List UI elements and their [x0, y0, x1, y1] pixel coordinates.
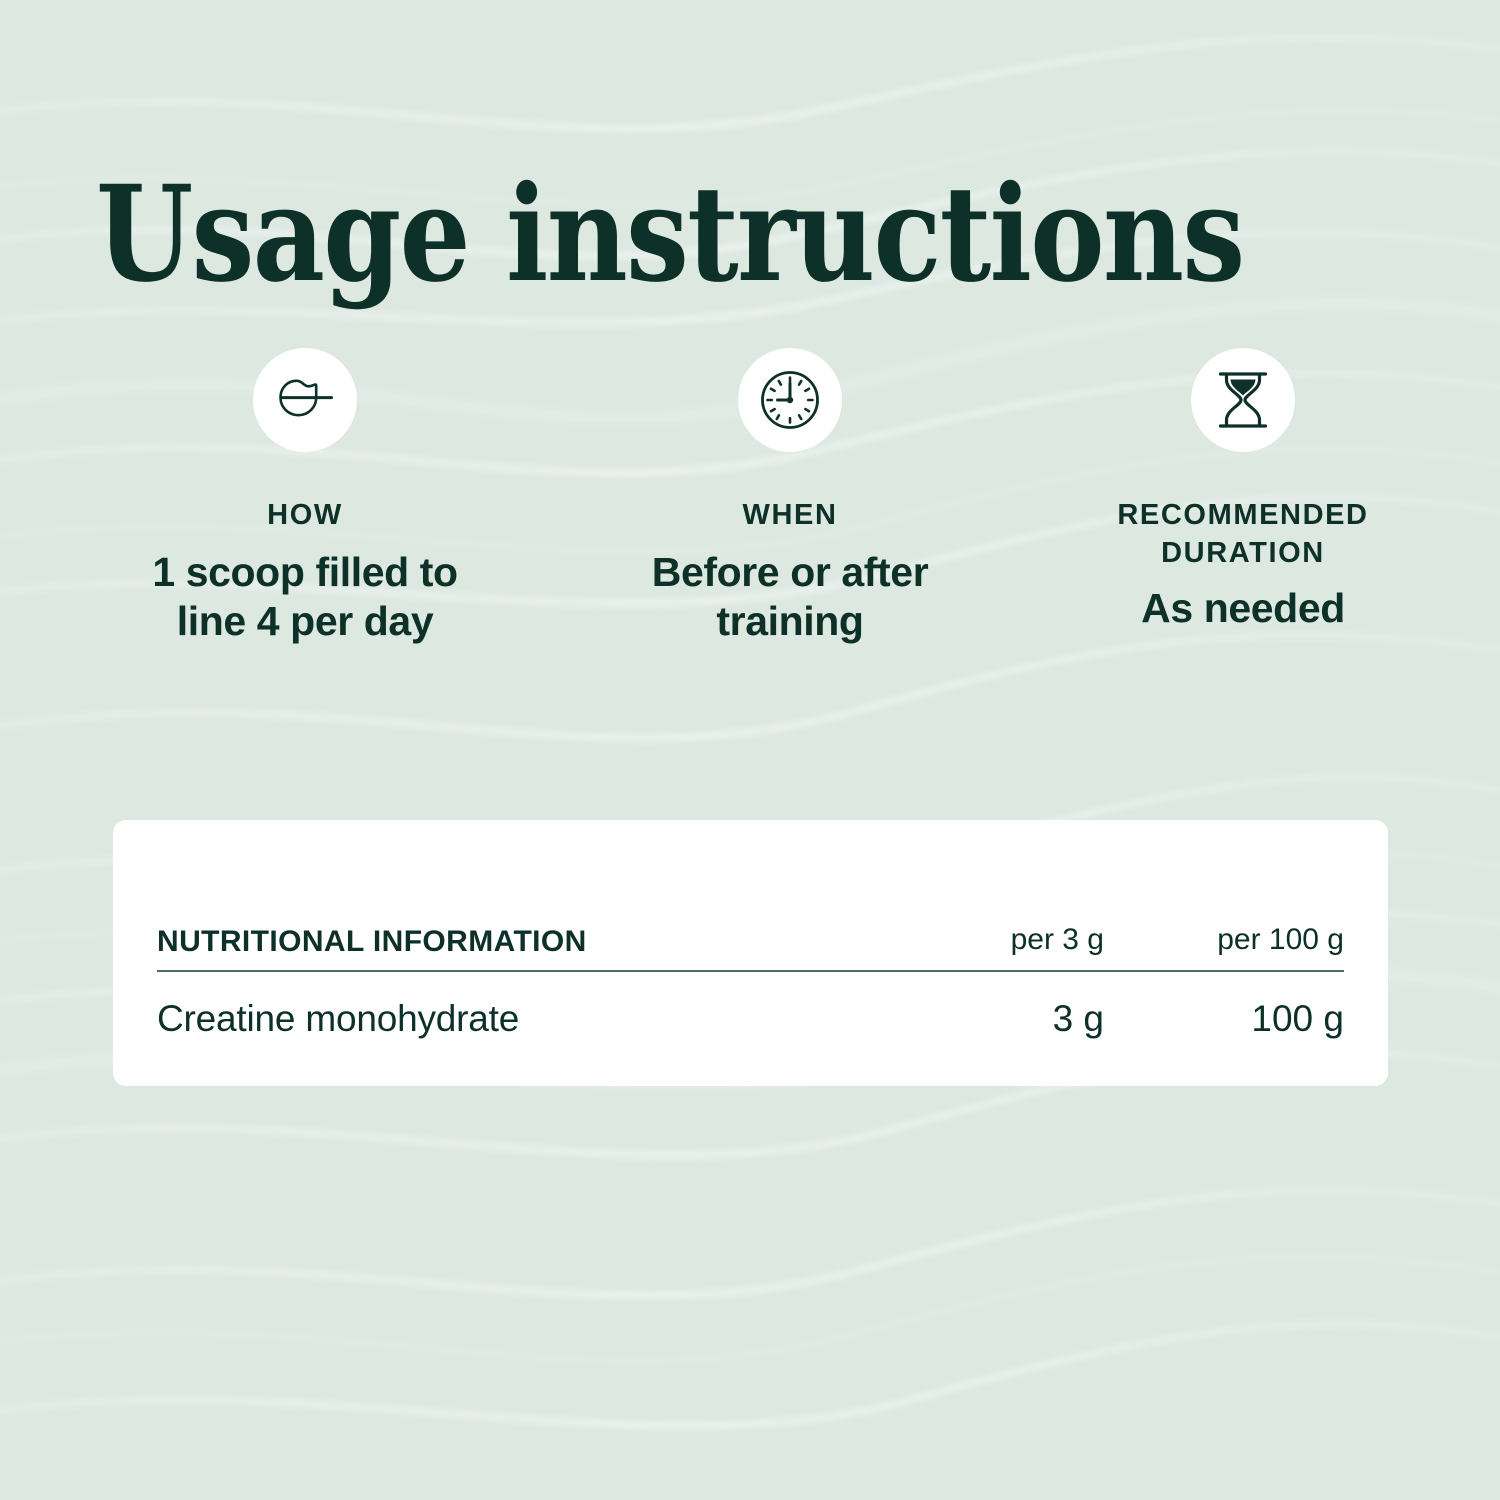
feature-label-duration: RECOMMENDED DURATION [1053, 496, 1433, 572]
feature-label-when: WHEN [600, 496, 980, 534]
scoop-icon-circle [253, 348, 357, 452]
feature-value-when: Before or after training [600, 548, 980, 646]
clock-icon-circle [738, 348, 842, 452]
row-value-per-serving: 3 g [864, 998, 1104, 1040]
feature-duration: RECOMMENDED DURATION As needed [1053, 348, 1433, 633]
scoop-icon [274, 375, 336, 425]
hourglass-icon-circle [1191, 348, 1295, 452]
table-row: Creatine monohydrate 3 g 100 g [157, 972, 1344, 1040]
nutrition-header-row: NUTRITIONAL INFORMATION per 3 g per 100 … [157, 867, 1344, 961]
nutritional-information-card: NUTRITIONAL INFORMATION per 3 g per 100 … [113, 820, 1388, 1086]
feature-value-how: 1 scoop filled to line 4 per day [115, 548, 495, 646]
column-header-per-100g: per 100 g [1104, 923, 1344, 961]
row-nutrient-name: Creatine monohydrate [157, 998, 864, 1040]
feature-value-duration: As needed [1053, 584, 1433, 633]
clock-icon [759, 369, 821, 431]
hourglass-icon [1215, 369, 1271, 431]
nutrition-title: NUTRITIONAL INFORMATION [157, 922, 864, 961]
page-title: Usage instructions [96, 164, 1243, 306]
feature-columns: HOW 1 scoop filled to line 4 per day [0, 348, 1500, 678]
feature-how: HOW 1 scoop filled to line 4 per day [115, 348, 495, 646]
usage-instructions-page: Usage instructions HOW 1 scoop filled to… [0, 0, 1500, 1500]
column-header-per-serving: per 3 g [864, 923, 1104, 961]
feature-when: WHEN Before or after training [600, 348, 980, 646]
feature-label-how: HOW [115, 496, 495, 534]
row-value-per-100g: 100 g [1104, 998, 1344, 1040]
